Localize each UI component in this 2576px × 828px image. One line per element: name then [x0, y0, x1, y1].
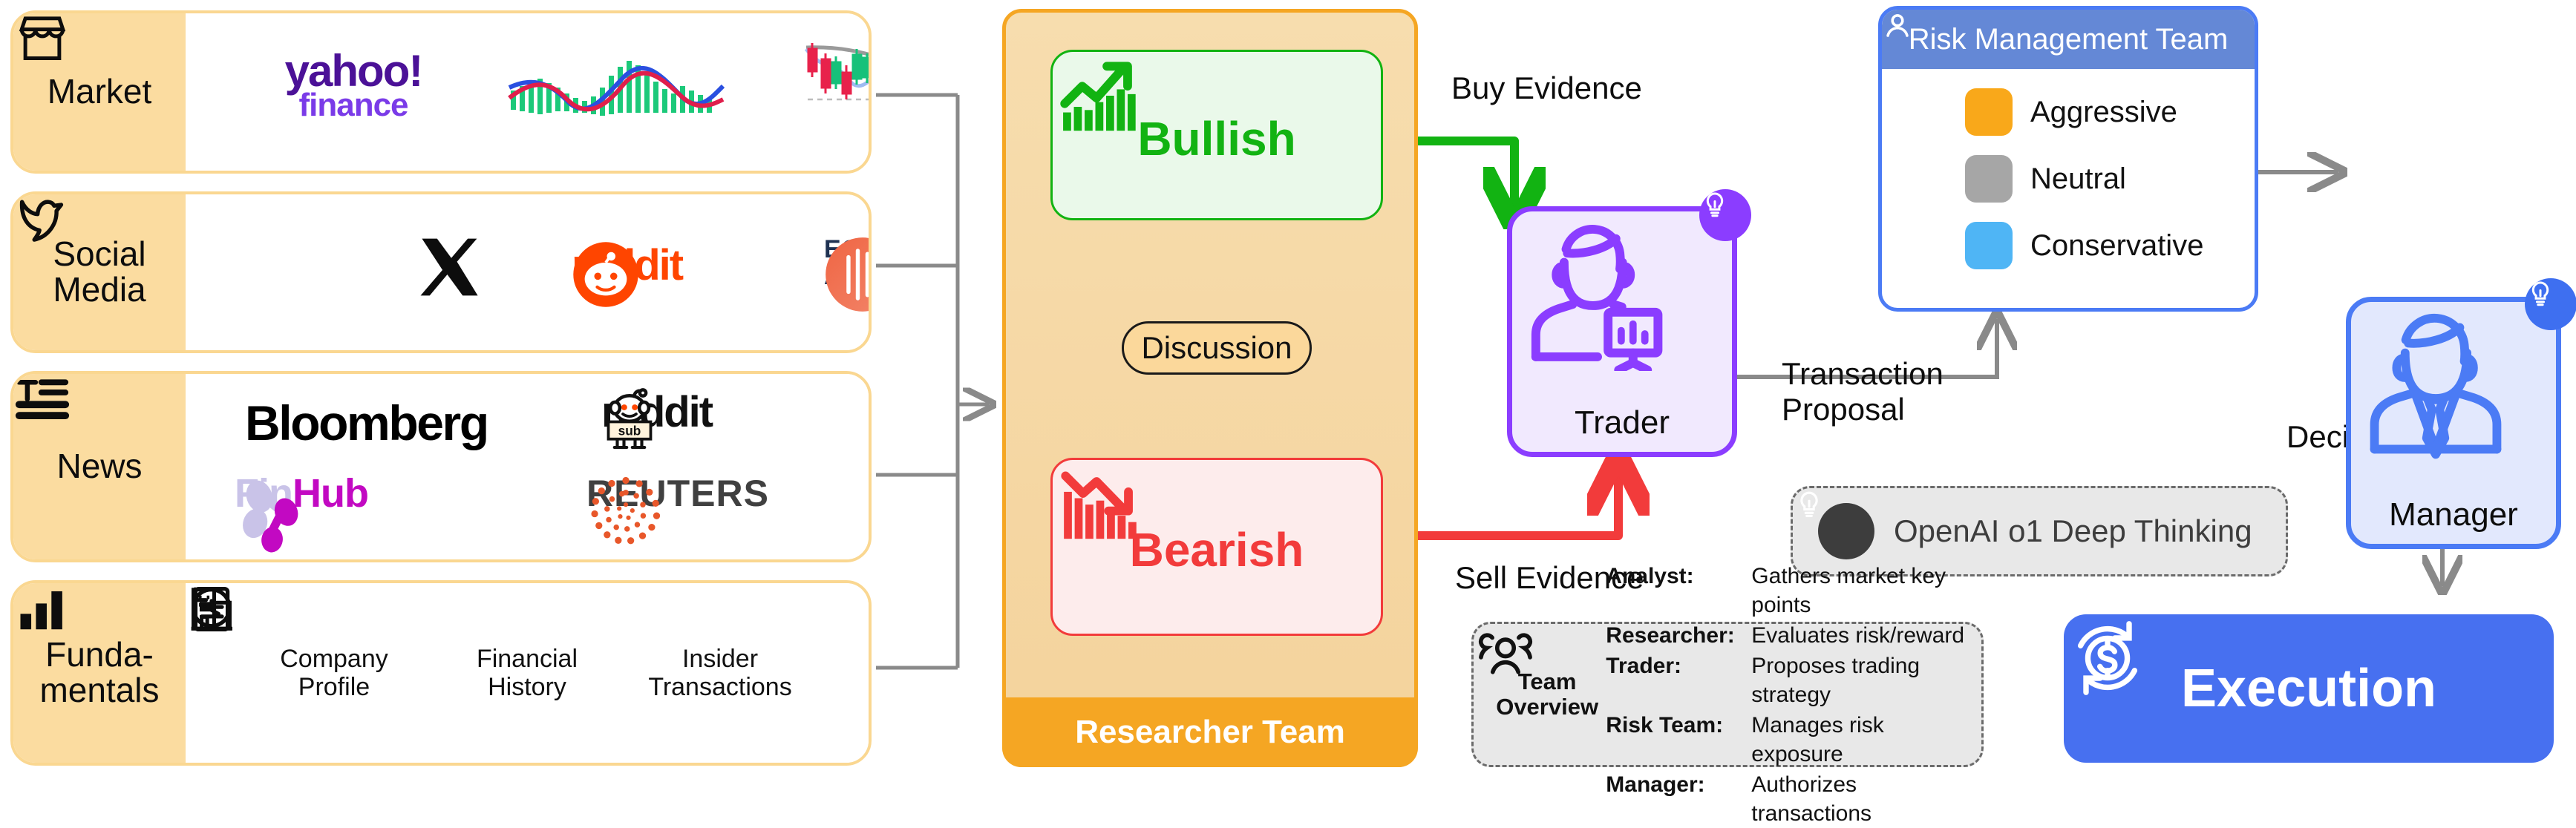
source-tab-news: News — [13, 374, 186, 559]
source-card-news[interactable]: News Bloomberg sub — [10, 371, 872, 562]
document-lines-icon — [186, 583, 238, 635]
person-icon — [1965, 155, 2013, 203]
subreddit-logo[interactable]: sub reddit — [601, 387, 712, 437]
source-card-fundamentals[interactable]: Funda-mentals CompanyProfile FinancialHi… — [10, 580, 872, 766]
researcher-team-footer: Researcher Team — [1002, 697, 1418, 767]
bullish-label: Bullish — [1137, 111, 1295, 166]
execution-card[interactable]: Execution — [2064, 614, 2554, 763]
bullish-card[interactable]: Bullish — [1050, 50, 1383, 220]
manager-label: Manager — [2389, 496, 2518, 533]
legend-row: Risk Team:Manages risk exposure — [1606, 711, 1967, 769]
insider-transactions-item[interactable]: InsiderTransactions — [627, 645, 813, 701]
lightbulb-icon — [2525, 278, 2576, 330]
team-overview-title: TeamOverview — [1496, 669, 1598, 720]
source-tab-market: Market — [13, 13, 186, 171]
legend-row: Trader:Proposes trading strategy — [1606, 651, 1967, 709]
risk-team-title: Risk Management Team — [1909, 23, 2229, 56]
source-tab-fundamentals: Funda-mentals — [13, 583, 186, 763]
team-overview-legend: TeamOverview Analyst:Gathers market key … — [1471, 622, 1984, 767]
legend-desc: Manages risk exposure — [1751, 711, 1967, 769]
financial-history-label: FinancialHistory — [477, 645, 578, 701]
source-tab-social: SocialMedia — [13, 194, 186, 350]
financial-history-item[interactable]: FinancialHistory — [434, 645, 620, 701]
bearish-card[interactable]: Bearish — [1050, 458, 1383, 636]
x-logo[interactable] — [416, 233, 497, 315]
legend-role: Risk Team: — [1606, 711, 1751, 769]
legend-desc: Evaluates risk/reward — [1751, 621, 1964, 650]
risk-member-conservative[interactable]: Conservative — [1965, 222, 2255, 269]
legend-role: Researcher: — [1606, 621, 1751, 650]
reuters-wordmark: REUTERS — [586, 472, 769, 515]
execution-label: Execution — [2181, 658, 2436, 719]
risk-member-label: Conservative — [2030, 229, 2203, 263]
eodhd-apis-logo[interactable]: EODHD APIs — [824, 236, 872, 289]
discussion-pill[interactable]: Discussion — [1122, 321, 1312, 375]
finhub-logo[interactable]: FinHub — [235, 470, 368, 516]
source-items-social: reddit EODHD APIs — [186, 194, 869, 350]
buy-evidence-label: Buy Evidence — [1451, 70, 1642, 106]
source-items-news: Bloomberg sub — [186, 374, 869, 559]
legend-row: Researcher:Evaluates risk/reward — [1606, 621, 1967, 650]
source-label-social: SocialMedia — [53, 237, 146, 308]
transaction-proposal-label: TransactionProposal — [1782, 356, 1944, 428]
person-icon — [1965, 88, 2013, 136]
legend-row: Analyst:Gathers market key points — [1606, 562, 1967, 620]
legend-role: Manager: — [1606, 770, 1751, 828]
lightbulb-icon — [1699, 189, 1751, 241]
reddit-wordmark: reddit — [572, 240, 682, 290]
researcher-team-panel[interactable]: Bullish Discussion Bearish Researcher Te… — [1002, 9, 1418, 767]
bearish-label: Bearish — [1130, 522, 1304, 577]
openai-badge-label: OpenAI o1 Deep Thinking — [1894, 513, 2252, 549]
reddit-logo[interactable]: reddit — [572, 240, 682, 290]
risk-member-neutral[interactable]: Neutral — [1965, 155, 2255, 203]
source-items-market: yahoo! finance — [186, 13, 869, 171]
risk-team-members: Aggressive Neutral Conservative — [1882, 69, 2255, 269]
source-label-news: News — [56, 449, 142, 484]
discussion-label: Discussion — [1141, 330, 1292, 366]
legend-role: Trader: — [1606, 651, 1751, 709]
risk-member-label: Neutral — [2030, 162, 2126, 196]
trader-card[interactable]: Trader — [1507, 206, 1737, 457]
lightbulb-icon — [1818, 503, 1874, 559]
storefront-icon — [13, 13, 71, 64]
source-card-social[interactable]: SocialMedia reddit — [10, 191, 872, 353]
insider-transactions-label: InsiderTransactions — [648, 645, 791, 701]
trader-label: Trader — [1575, 404, 1670, 441]
manager-card[interactable]: Manager — [2346, 297, 2561, 549]
yahoo-finance-logo[interactable]: yahoo! finance — [235, 52, 472, 119]
subreddit-wordmark: reddit — [601, 387, 712, 437]
legend-role: Analyst: — [1606, 562, 1751, 620]
company-profile-item[interactable]: CompanyProfile — [241, 645, 427, 701]
source-label-market: Market — [48, 74, 152, 110]
person-suit-icon — [2351, 302, 2520, 464]
source-label-fundamentals: Funda-mentals — [39, 637, 159, 709]
person-presentation-icon — [1512, 211, 1683, 371]
dollar-refresh-icon — [2064, 614, 2151, 702]
eodhd-wordmark: EODHD APIs — [824, 236, 872, 289]
risk-member-label: Aggressive — [2030, 96, 2177, 129]
risk-team-header: Risk Management Team — [1882, 10, 2255, 69]
team-overview-rows: Analyst:Gathers market key points Resear… — [1606, 562, 1967, 828]
legend-desc: Authorizes transactions — [1751, 770, 1967, 828]
legend-desc: Proposes trading strategy — [1751, 651, 1967, 709]
legend-row: Manager:Authorizes transactions — [1606, 770, 1967, 828]
article-icon — [13, 374, 71, 427]
candlestick-chart — [802, 36, 872, 151]
building-icon — [186, 583, 238, 635]
risk-member-aggressive[interactable]: Aggressive — [1965, 88, 2255, 136]
risk-management-team-panel[interactable]: Risk Management Team Aggressive Neutral … — [1878, 6, 2258, 312]
reuters-logo[interactable]: REUTERS — [586, 472, 769, 515]
volume-indicator-chart — [505, 45, 728, 141]
bloomberg-logo[interactable]: Bloomberg — [245, 395, 488, 451]
source-items-fundamentals: CompanyProfile FinancialHistory InsiderT… — [186, 583, 869, 763]
legend-desc: Gathers market key points — [1751, 562, 1967, 620]
finhub-wordmark: FinHub — [235, 470, 368, 516]
bar-chart-icon — [13, 583, 70, 635]
person-icon — [1965, 222, 2013, 269]
researcher-team-label: Researcher Team — [1075, 714, 1345, 751]
clock-rewind-icon — [186, 583, 238, 635]
team-overview-title-block: TeamOverview — [1488, 669, 1606, 720]
source-card-market[interactable]: Market yahoo! finance — [10, 10, 872, 174]
architecture-diagram: Market yahoo! finance — [0, 0, 2576, 775]
company-profile-label: CompanyProfile — [280, 645, 388, 701]
